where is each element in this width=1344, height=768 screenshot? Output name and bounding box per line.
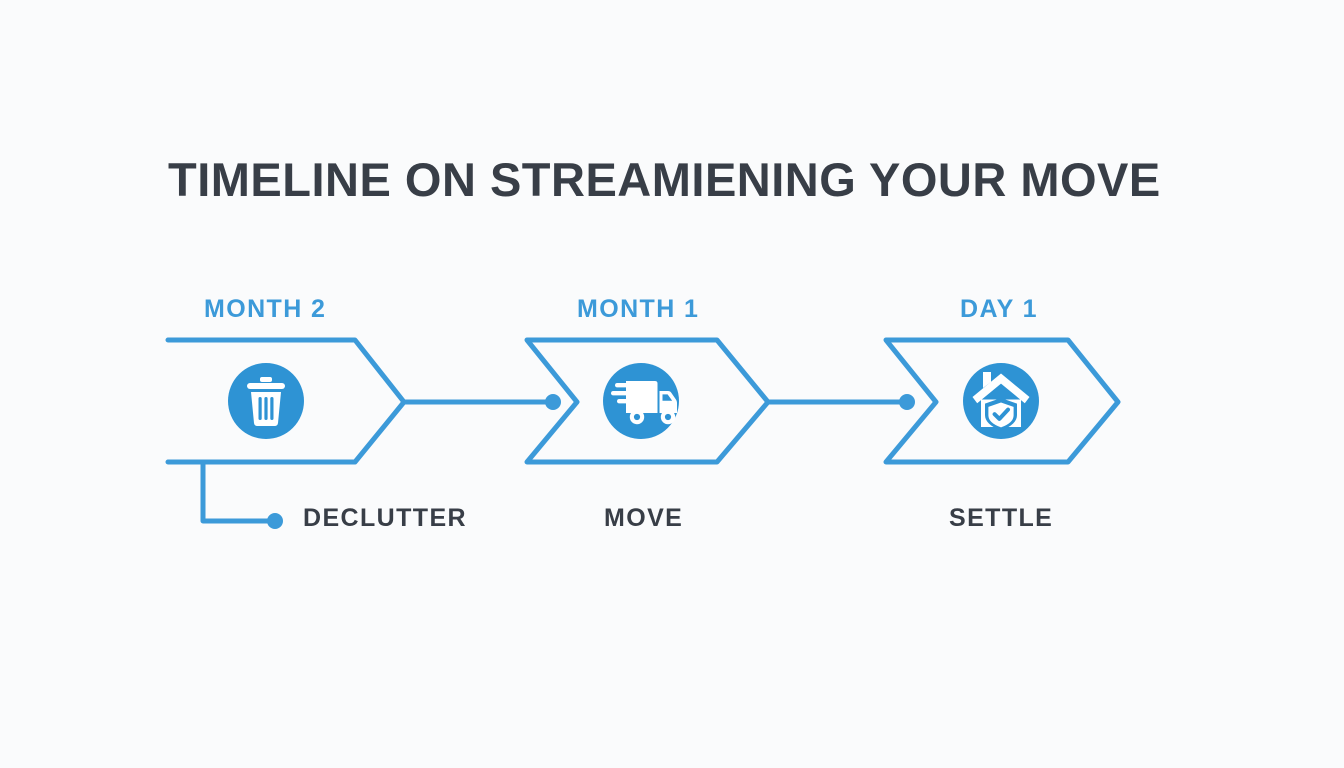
stage-period-label-3: DAY 1 [960,295,1038,324]
stage-period-label-2: MONTH 1 [577,295,699,324]
page-title: TIMELINE ON STREAMIENING YOUR MOVE [168,155,1228,204]
elbow-line-stage-1 [203,462,273,521]
connector-stage-2-to-3 [768,394,915,410]
stage-caption-label-3: SETTLE [949,504,1053,533]
stage-caption-label-1: DECLUTTER [303,504,467,533]
stage-1-caption-connector [203,462,283,529]
stage-caption-label-2: MOVE [604,504,683,533]
connector-dot-stage-1 [267,513,283,529]
timeline-graphics [0,0,1344,768]
stage-1-icon-badge[interactable] [228,363,304,439]
stage-period-label-1: MONTH 2 [204,295,326,324]
stage-2-icon-badge[interactable] [603,363,679,439]
connector-dot-1-2 [545,394,561,410]
stage-3-icon-badge[interactable] [963,363,1039,439]
connector-dot-2-3 [899,394,915,410]
connector-stage-1-to-2 [404,394,561,410]
timeline-infographic: TIMELINE ON STREAMIENING YOUR MOVE MONTH… [0,0,1344,768]
